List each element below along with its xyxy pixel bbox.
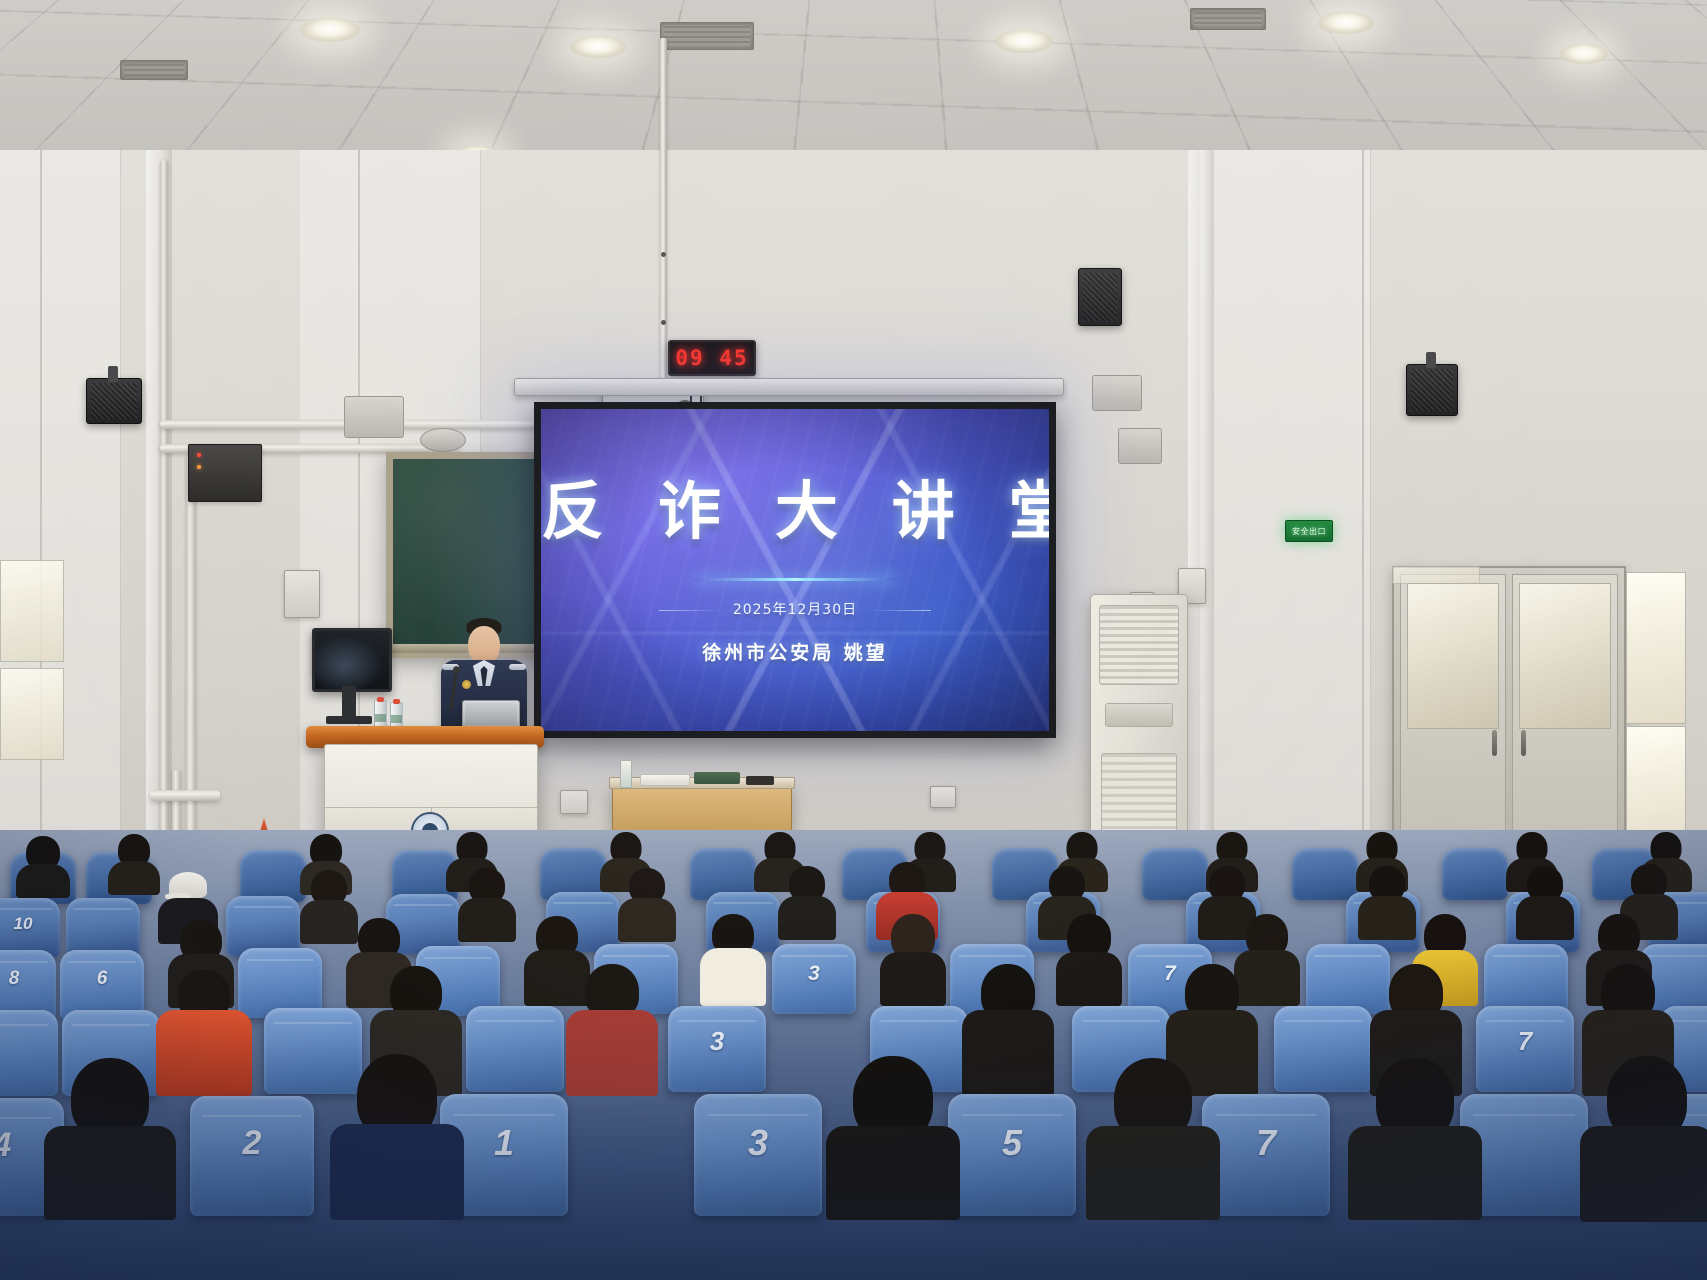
person-shoulders <box>1056 952 1122 1006</box>
seat-number: 3 <box>710 1026 724 1057</box>
speaker-bracket <box>1426 352 1436 368</box>
presenter-head <box>468 626 500 664</box>
audience-member-foreground <box>1348 1058 1482 1220</box>
wall-duct-box <box>1092 375 1142 411</box>
audience-member-foreground <box>826 1056 960 1218</box>
seat[interactable] <box>1442 848 1508 900</box>
ac-upper-grille <box>1099 605 1179 685</box>
upper-window <box>0 560 64 662</box>
seat-number: 7 <box>1256 1122 1276 1164</box>
person-shoulders <box>618 898 676 942</box>
bottle-label <box>391 715 402 723</box>
seat[interactable]: 3 <box>694 1094 822 1216</box>
wall-outlet[interactable] <box>930 786 956 808</box>
ceiling-light <box>995 30 1053 53</box>
auditorium-photo: 09 45 反 诈 大 讲 堂 2025年12月30日 徐州市公安局 姚望 安全… <box>0 0 1707 1280</box>
seat-crease <box>1284 1020 1362 1022</box>
presenter-laptop[interactable] <box>462 700 520 728</box>
bottle-label <box>375 714 386 722</box>
person-shoulders <box>826 1126 960 1220</box>
person-shoulders <box>778 896 836 940</box>
projector-mount-pole <box>660 38 667 398</box>
seat[interactable]: 2 <box>190 1096 314 1216</box>
seat-crease <box>0 961 48 963</box>
clock-time: 09 45 <box>675 346 748 370</box>
seat[interactable]: 7 <box>1202 1094 1330 1216</box>
wall-panel <box>0 150 121 910</box>
seat[interactable]: 7 <box>1476 1006 1574 1092</box>
seat-crease <box>246 959 313 961</box>
seat-crease <box>553 902 612 904</box>
audience-member <box>778 866 836 940</box>
upper-window <box>0 668 64 760</box>
exit-sign-text: 安全出口 <box>1292 526 1326 537</box>
exit-door-frame <box>1392 566 1626 860</box>
audience-member-foreground <box>44 1058 176 1218</box>
slide-vignette <box>541 409 1049 731</box>
seat-number: 3 <box>748 1122 768 1164</box>
seat-crease <box>68 961 135 963</box>
ceiling-light <box>570 36 626 58</box>
wall-speaker-center-left <box>1078 268 1122 326</box>
seat-crease <box>72 1024 150 1026</box>
audience-member-foreground <box>330 1054 464 1218</box>
wall-control-panel[interactable] <box>188 444 262 502</box>
seat[interactable]: 3 <box>668 1006 766 1092</box>
led-wall-clock: 09 45 <box>668 340 756 376</box>
seat-crease <box>274 1022 352 1024</box>
seat-crease <box>0 1024 48 1026</box>
wall-conduit-vertical <box>160 160 168 860</box>
wall-switch-plate[interactable] <box>284 570 320 618</box>
person-shoulders <box>1358 896 1416 940</box>
seat[interactable]: 10 <box>0 898 60 958</box>
air-conditioner-unit <box>1090 594 1188 854</box>
ceiling-vent <box>1190 8 1266 30</box>
seat-number: 5 <box>1002 1122 1022 1164</box>
presentation-slide: 反 诈 大 讲 堂 2025年12月30日 徐州市公安局 姚望 <box>541 409 1049 731</box>
speaker-bracket <box>108 366 118 382</box>
person-shoulders <box>1516 896 1574 940</box>
projection-screen: 反 诈 大 讲 堂 2025年12月30日 徐州市公安局 姚望 <box>534 402 1056 738</box>
seat-crease <box>602 955 669 957</box>
seat-crease <box>713 902 772 904</box>
audience-member <box>16 836 70 894</box>
seat-crease <box>476 1020 554 1022</box>
person-shoulders <box>962 1010 1054 1096</box>
seat[interactable] <box>226 896 300 956</box>
audience-member <box>1056 914 1122 1006</box>
wall-duct-box <box>1118 428 1162 464</box>
presenter-badge <box>462 680 471 689</box>
wall-pipe-bend <box>150 790 220 801</box>
ceiling-light <box>1560 44 1608 64</box>
person-shoulders <box>44 1126 176 1220</box>
seat-crease <box>1082 1020 1160 1022</box>
laptop-lid <box>465 703 517 725</box>
seat-crease <box>1473 1114 1575 1116</box>
seat-number: 6 <box>97 968 108 990</box>
seat-crease <box>678 1020 756 1022</box>
person-shoulders <box>16 864 70 898</box>
pole-bolt <box>661 320 666 325</box>
person-shoulders <box>700 948 766 1006</box>
wall-speaker-left <box>86 378 142 424</box>
ceiling-light <box>1318 12 1374 34</box>
seat-number: 10 <box>14 914 33 934</box>
seat-crease <box>1648 955 1707 957</box>
audience-member <box>108 834 160 892</box>
door-window <box>1519 583 1611 729</box>
seat-crease <box>233 906 292 908</box>
monitor-camera-feed <box>315 631 389 689</box>
side-window <box>1392 566 1480 584</box>
seat-number: 2 <box>243 1124 262 1163</box>
seat-crease <box>1215 1114 1317 1116</box>
person-shoulders <box>1348 1126 1482 1220</box>
ceiling-light <box>300 18 360 42</box>
slide-date: 2025年12月30日 <box>541 599 1049 619</box>
wall-speaker-right <box>1406 364 1458 416</box>
pole-bolt <box>661 252 666 257</box>
door-handle[interactable] <box>1521 730 1526 756</box>
seat-crease <box>453 1114 555 1116</box>
seat[interactable] <box>1292 848 1358 900</box>
audience-member-foreground <box>1580 1056 1707 1220</box>
seat-crease <box>0 908 53 910</box>
audience-member <box>880 914 946 1006</box>
audience-member <box>458 868 516 942</box>
white-cap <box>169 872 207 898</box>
seat-crease <box>958 955 1025 957</box>
door-leaf-right[interactable] <box>1512 574 1618 852</box>
presenter-epaulet-right <box>509 664 526 670</box>
slide-title: 反 诈 大 讲 堂 <box>541 461 1049 552</box>
seat[interactable] <box>466 1006 564 1092</box>
seat[interactable] <box>66 898 140 958</box>
side-window <box>1626 572 1686 724</box>
ac-control-panel[interactable] <box>1105 703 1173 727</box>
seat[interactable]: 3 <box>772 944 856 1014</box>
audience-member <box>1516 866 1574 940</box>
emergency-exit-sign: 安全出口 <box>1285 520 1333 542</box>
audience-member <box>618 868 676 942</box>
seat-crease <box>961 1114 1063 1116</box>
seat-crease <box>1492 955 1559 957</box>
audience-member <box>1358 866 1416 940</box>
seat[interactable] <box>1484 944 1568 1014</box>
seat-number: 3 <box>808 962 820 986</box>
bottle-cap <box>377 697 384 702</box>
person-shoulders <box>566 1010 658 1096</box>
wall-seam <box>40 150 42 910</box>
slide-date-rule-right <box>869 610 931 611</box>
person-shoulders <box>1086 1126 1220 1220</box>
seat-crease <box>1670 1020 1707 1022</box>
slide-date-rule-left <box>659 610 721 611</box>
slide-presenter: 徐州市公安局 姚望 <box>541 638 1049 665</box>
status-led <box>197 453 201 457</box>
seat-crease <box>707 1114 809 1116</box>
door-leaf-left[interactable] <box>1400 574 1506 852</box>
wall-duct-box <box>344 396 404 438</box>
seat[interactable] <box>240 850 306 902</box>
table-item <box>746 776 774 785</box>
seat-number: 8 <box>9 968 20 990</box>
seat[interactable]: 5 <box>948 1094 1076 1216</box>
seat-crease <box>880 1020 958 1022</box>
table-folder <box>694 772 740 784</box>
seat-number: 7 <box>1518 1026 1532 1057</box>
audience-member <box>566 964 658 1096</box>
person-shoulders <box>458 898 516 942</box>
seat-number: 1 <box>494 1122 514 1164</box>
seat-crease <box>1486 1020 1564 1022</box>
person-shoulders <box>108 861 160 895</box>
seat-crease <box>424 957 491 959</box>
monitor-stand <box>342 686 356 720</box>
projection-screen-housing <box>514 378 1064 396</box>
stage-monitor <box>312 628 392 692</box>
status-led <box>197 465 201 469</box>
door-handle[interactable] <box>1492 730 1497 756</box>
seat-crease <box>202 1115 301 1117</box>
ac-lower-grille <box>1101 753 1177 841</box>
audience-member-foreground <box>1086 1058 1220 1220</box>
ceiling-vent <box>120 60 188 80</box>
audience-member <box>700 914 766 1006</box>
audience-area: 10 <box>0 830 1707 1280</box>
slide-divider <box>693 578 896 581</box>
door-window <box>1407 583 1499 729</box>
ceiling-vent <box>660 22 754 50</box>
person-shoulders <box>330 1124 464 1220</box>
seat-crease <box>73 908 132 910</box>
wall-outlet[interactable] <box>560 790 588 814</box>
bottle-cap <box>393 699 400 704</box>
seat-crease <box>780 955 847 957</box>
monitor-stand-base <box>326 716 372 724</box>
audience-member <box>962 964 1054 1096</box>
seat-crease <box>1136 955 1203 957</box>
seat-number: 4 <box>0 1126 11 1165</box>
seat-crease <box>393 904 452 906</box>
seat-crease <box>1314 955 1381 957</box>
wall-pillar <box>1188 150 1214 910</box>
person-shoulders <box>1580 1126 1707 1222</box>
person-shoulders <box>880 952 946 1006</box>
wall-seam <box>1362 150 1364 910</box>
wall-duct-box <box>420 428 466 452</box>
table-bottle <box>620 760 632 788</box>
table-papers <box>640 774 690 786</box>
